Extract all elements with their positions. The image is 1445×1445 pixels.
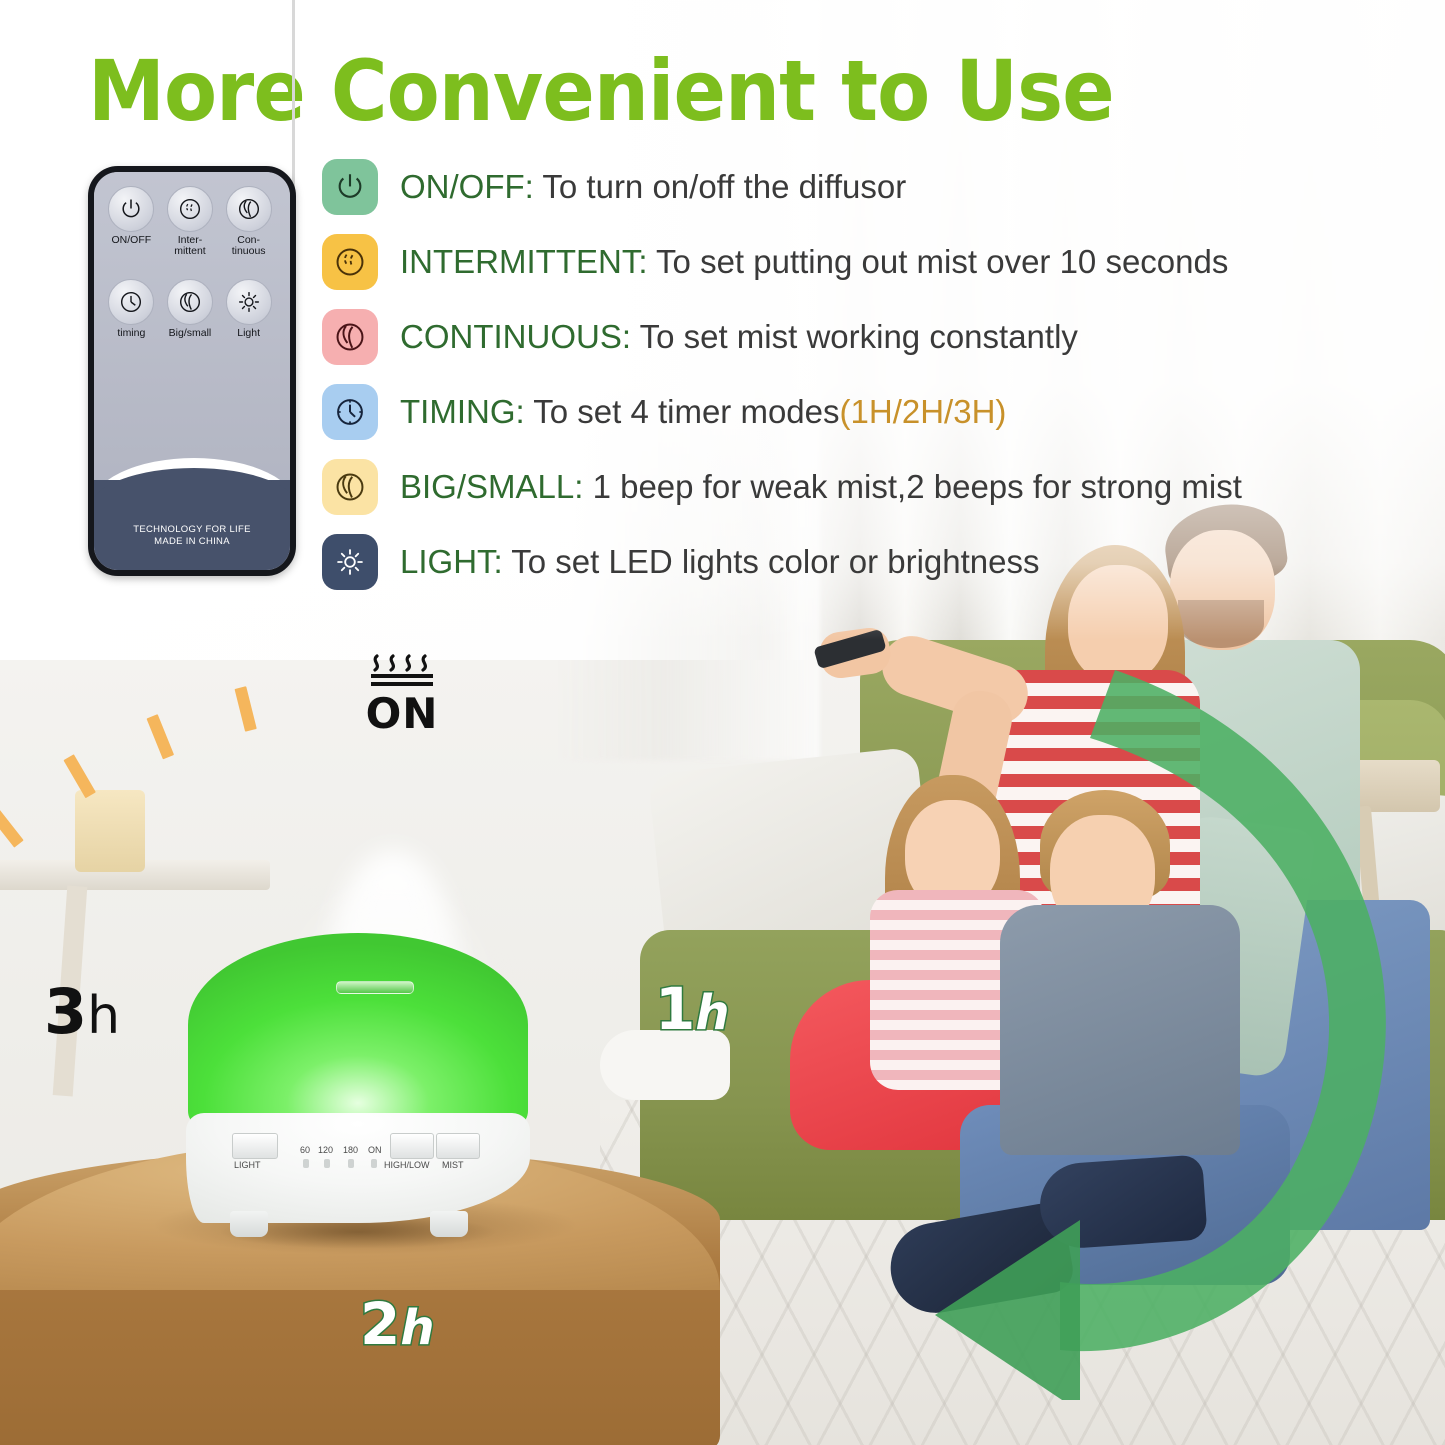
remote-button-row-2: timing Big/small <box>102 279 278 339</box>
remote-button-row-1: ON/OFF Inter- mittent <box>102 186 278 257</box>
indicator-led-180 <box>348 1159 354 1168</box>
light-sun-icon <box>333 545 367 579</box>
intermittent-mist-icon <box>177 196 203 222</box>
remote-button-face <box>167 186 213 232</box>
indicator-label-180: 180 <box>343 1145 358 1155</box>
remote-control: ON/OFF Inter- mittent <box>88 166 296 576</box>
timer-3h-label: 3h <box>44 975 120 1048</box>
continuous-mist-icon <box>333 320 367 354</box>
feature-row-continuous: CONTINUOUS: To set mist working constant… <box>322 300 1322 374</box>
continuous-mist-icon <box>236 196 262 222</box>
feature-label: CONTINUOUS: <box>400 318 631 355</box>
big-small-mist-icon <box>333 470 367 504</box>
remote-button-face <box>226 186 272 232</box>
remote-button-face <box>226 279 272 325</box>
remote-footer-line-1: TECHNOLOGY FOR LIFE <box>94 524 290 536</box>
boy-shoe-right <box>1037 1154 1208 1250</box>
page-title: More Convenient to Use <box>88 42 1114 140</box>
power-icon <box>333 170 367 204</box>
feature-text: INTERMITTENT: To set putting out mist ov… <box>400 243 1228 281</box>
feature-row-big-small: BIG/SMALL: 1 beep for weak mist,2 beeps … <box>322 450 1322 524</box>
feature-row-light: LIGHT: To set LED lights color or bright… <box>322 525 1322 599</box>
feature-label: TIMING: <box>400 393 525 430</box>
remote-button-on-off[interactable]: ON/OFF <box>103 186 159 257</box>
remote-button-face <box>167 279 213 325</box>
timer-1h-unit: h <box>695 985 729 1041</box>
timer-1h-label: 1h <box>655 975 730 1043</box>
indicator-led-on <box>371 1159 377 1168</box>
indicator-label-on: ON <box>368 1145 382 1155</box>
feature-text: TIMING: To set 4 timer modes(1H/2H/3H) <box>400 393 1006 431</box>
feature-label: ON/OFF: <box>400 168 534 205</box>
feature-desc: To set mist working constantly <box>631 318 1078 355</box>
feature-icon-tile <box>322 384 378 440</box>
diffuser-mist-button[interactable] <box>436 1133 480 1159</box>
feature-desc: To set 4 timer modes <box>525 393 840 430</box>
remote-footer-line-2: MADE IN CHINA <box>94 536 290 548</box>
feature-text: CONTINUOUS: To set mist working constant… <box>400 318 1078 356</box>
feature-row-intermittent: INTERMITTENT: To set putting out mist ov… <box>322 225 1322 299</box>
remote-button-grid: ON/OFF Inter- mittent <box>102 186 278 343</box>
remote-button-label: Big/small <box>162 328 218 339</box>
feature-text: LIGHT: To set LED lights color or bright… <box>400 543 1040 581</box>
diffuser-high-low-button[interactable] <box>390 1133 434 1159</box>
timer-tick <box>146 714 174 759</box>
timer-3h-unit: h <box>87 986 120 1046</box>
remote-button-face <box>108 279 154 325</box>
infographic-root: More Convenient to Use ON/OFF <box>0 0 1445 1445</box>
indicator-label-120: 120 <box>318 1145 333 1155</box>
timer-2h-unit: h <box>400 1300 434 1356</box>
remote-button-light[interactable]: Light <box>221 279 277 339</box>
feature-icon-tile <box>322 234 378 290</box>
intermittent-mist-icon <box>333 245 367 279</box>
feature-label: BIG/SMALL: <box>400 468 583 505</box>
timer-tick <box>235 686 257 732</box>
diffuser-high-low-label: HIGH/LOW <box>384 1160 430 1170</box>
remote-button-label-2: mittent <box>162 246 218 257</box>
boy-shirt <box>1000 905 1240 1155</box>
indicator-label-60: 60 <box>300 1145 310 1155</box>
big-small-mist-icon <box>177 289 203 315</box>
remote-button-label: timing <box>103 328 159 339</box>
feature-icon-tile <box>322 309 378 365</box>
diffuser-glowing-dome <box>188 933 528 1133</box>
feature-text: BIG/SMALL: 1 beep for weak mist,2 beeps … <box>400 468 1242 506</box>
feature-icon-tile <box>322 534 378 590</box>
indicator-led-60 <box>303 1159 309 1168</box>
feature-row-on-off: ON/OFF: To turn on/off the diffusor <box>322 150 1322 224</box>
aroma-diffuser: LIGHT 60 120 180 ON HIGH/LOW MIST <box>178 915 538 1255</box>
remote-footer-text: TECHNOLOGY FOR LIFE MADE IN CHINA <box>94 524 290 548</box>
power-icon <box>118 196 144 222</box>
steam-icon <box>365 640 439 688</box>
timer-tick <box>63 754 95 798</box>
feature-desc: 1 beep for weak mist,2 beeps for strong … <box>583 468 1241 505</box>
clock-icon <box>118 289 144 315</box>
feature-highlight: (1H/2H/3H) <box>840 393 1007 430</box>
clock-icon <box>333 395 367 429</box>
feature-desc: To set LED lights color or brightness <box>503 543 1040 580</box>
timer-3h-number: 3 <box>44 975 87 1048</box>
light-sun-icon <box>236 289 262 315</box>
feature-icon-tile <box>322 459 378 515</box>
remote-button-label-2: tinuous <box>221 246 277 257</box>
feature-row-timing: TIMING: To set 4 timer modes(1H/2H/3H) <box>322 375 1322 449</box>
mist-outlet <box>336 981 414 994</box>
diffuser-control-panel: LIGHT 60 120 180 ON HIGH/LOW MIST <box>204 1133 504 1179</box>
timer-2h-number: 2 <box>360 1290 400 1358</box>
diffuser-light-button[interactable] <box>232 1133 278 1159</box>
diffuser-light-label: LIGHT <box>234 1160 261 1170</box>
remote-button-big-small[interactable]: Big/small <box>162 279 218 339</box>
remote-button-timing[interactable]: timing <box>103 279 159 339</box>
feature-text: ON/OFF: To turn on/off the diffusor <box>400 168 906 206</box>
mist-on-indicator: ON <box>352 640 452 735</box>
feature-label: LIGHT: <box>400 543 503 580</box>
remote-button-label: ON/OFF <box>103 235 159 246</box>
timer-2h-label: 2h <box>360 1290 435 1358</box>
remote-button-intermittent[interactable]: Inter- mittent <box>162 186 218 257</box>
feature-list: ON/OFF: To turn on/off the diffusor INTE… <box>322 150 1322 600</box>
remote-button-label: Light <box>221 328 277 339</box>
feature-desc: To turn on/off the diffusor <box>534 168 906 205</box>
diffuser-foot-left <box>230 1211 268 1237</box>
indicator-led-120 <box>324 1159 330 1168</box>
remote-button-continuous[interactable]: Con- tinuous <box>221 186 277 257</box>
feature-label: INTERMITTENT: <box>400 243 647 280</box>
timer-1h-number: 1 <box>655 975 695 1043</box>
feature-icon-tile <box>322 159 378 215</box>
diffuser-mist-label: MIST <box>442 1160 464 1170</box>
remote-button-face <box>108 186 154 232</box>
feature-desc: To set putting out mist over 10 seconds <box>647 243 1228 280</box>
diffuser-foot-right <box>430 1211 468 1237</box>
on-label: ON <box>352 693 452 735</box>
